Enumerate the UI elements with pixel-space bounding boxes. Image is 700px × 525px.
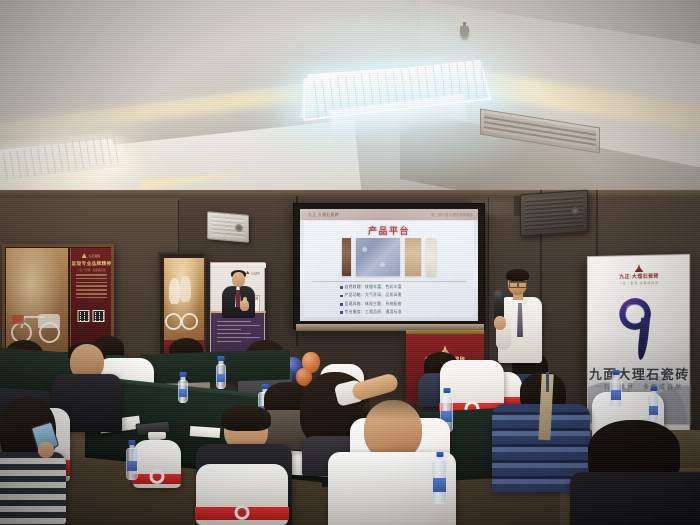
slide-logo: 九正·大理石瓷砖 <box>306 211 336 218</box>
bottle-body <box>126 448 138 480</box>
bottle-label <box>433 478 446 492</box>
list-item: 产品功能：大气开阔、品质高雅 <box>340 293 460 298</box>
bicycle-wheel <box>165 313 182 330</box>
poster-subtitle: 一石一世界 · 多面成自然 <box>71 268 112 272</box>
banner-portrait-head <box>232 272 245 287</box>
banner-bicycle-icon <box>165 306 199 332</box>
projection-screen: 九正·大理石瓷砖 第三届中国·大理石瓷砖峰会 产品平台 自然纹理：纹理丰富、色彩… <box>300 209 478 321</box>
bicycle-cart <box>38 314 60 328</box>
banner-topbar <box>211 263 266 268</box>
banner-header: 九正·大理石瓷砖 一石一世界 多面成自然 <box>588 263 691 286</box>
bottle-body <box>610 378 622 408</box>
water-bottle <box>216 356 226 388</box>
bullet-square-icon <box>340 286 343 289</box>
poster-logo-text: 九正瓷砖 <box>88 254 100 258</box>
bottle-body <box>216 364 226 389</box>
banner-title: 九面大理石瓷砖 <box>588 364 691 383</box>
water-bottle <box>432 452 447 504</box>
slide-swatch-row <box>304 238 474 278</box>
bullet-text: 产品功能：大气开阔、品质高雅 <box>345 293 402 298</box>
banner-figure <box>169 278 180 304</box>
ceiling-light-left <box>0 128 130 190</box>
bullet-text: 自然纹理：纹理丰富、色彩丰富 <box>345 285 402 290</box>
bullet-square-icon <box>340 303 343 306</box>
brand-mark-icon <box>246 271 249 275</box>
bullet-text: 呈现风格：体现主题、系统配套 <box>345 302 402 307</box>
chair-sash-ring <box>235 505 250 520</box>
slide-header-right-text: 第三届中国·大理石瓷砖峰会 <box>431 212 473 217</box>
swatch-marble <box>356 238 400 276</box>
loudspeaker-icon <box>520 190 588 237</box>
qr-code-icon <box>78 310 90 322</box>
banner-logo: 九正瓷砖 <box>246 270 260 275</box>
person-torso <box>0 452 66 524</box>
chair <box>196 464 288 525</box>
water-bottle <box>648 386 659 422</box>
nine-gloss <box>625 303 636 314</box>
presenter-hair <box>506 269 529 281</box>
water-bottle <box>178 372 188 402</box>
swatch-sandstone <box>405 238 421 276</box>
bottle-label <box>611 390 621 400</box>
poster-qr-row <box>78 310 105 322</box>
bottle-body <box>648 394 659 423</box>
chair <box>133 440 181 488</box>
bottle-body <box>432 460 447 504</box>
bullet-text: 专业服务：工程品质、通用标准 <box>345 310 402 315</box>
banner-header-logo-text: 九正·大理石瓷砖 <box>619 273 659 281</box>
slide-body: 产品平台 自然纹理：纹理丰富、色彩丰富 产品功能：大气开阔、品质高雅 <box>304 221 474 317</box>
thumbs-up-icon <box>243 297 247 304</box>
speaker-driver <box>235 224 243 233</box>
poster-title: 呈现专业品牌精神 <box>71 261 112 267</box>
loudspeaker-icon <box>207 211 249 243</box>
bicycle-basket <box>12 315 24 324</box>
bullet-square-icon <box>340 311 343 314</box>
bottle-label <box>217 374 225 382</box>
banner-subtitle: 一石一世界 多面成自然 <box>588 382 691 391</box>
audience-person <box>0 396 70 525</box>
slide-title: 产品平台 <box>304 224 474 237</box>
poster-body-lines <box>76 274 107 300</box>
lanyard <box>546 372 549 392</box>
bottle-label <box>127 461 137 471</box>
bottle-label <box>179 389 187 396</box>
table <box>140 349 290 384</box>
ceiling-light-main <box>296 46 496 132</box>
slide-bullet-list: 自然纹理：纹理丰富、色彩丰富 产品功能：大气开阔、品质高雅 呈现风格：体现主题、… <box>340 285 460 319</box>
bicycle-wheel <box>181 313 198 330</box>
presentation-slide: 九正·大理石瓷砖 第三届中国·大理石瓷砖峰会 产品平台 自然纹理：纹理丰富、色彩… <box>300 209 478 321</box>
banner-header-subtitle: 一石一世界 多面成自然 <box>619 281 658 286</box>
microphone-head <box>493 290 505 299</box>
slide-logo-text: 九正·大理石瓷砖 <box>308 212 339 218</box>
water-bottle <box>610 370 622 408</box>
brand-mark-icon <box>82 253 87 258</box>
glasses-icon <box>509 281 527 285</box>
slide-header: 九正·大理石瓷砖 第三届中国·大理石瓷砖峰会 <box>300 209 478 220</box>
person-torso <box>570 472 700 525</box>
sprinkler-icon <box>460 26 469 37</box>
list-item: 自然纹理：纹理丰富、色彩丰富 <box>340 285 460 290</box>
poster-logo: 九正瓷砖 <box>80 252 102 259</box>
swatch-solid <box>426 238 436 276</box>
person-hair <box>221 405 271 431</box>
banner-figure <box>180 276 191 302</box>
bottle-body <box>178 380 188 403</box>
presenter-hand <box>494 316 506 330</box>
numeral-nine-logo <box>615 298 661 360</box>
bottle-label <box>649 406 658 415</box>
chair-sash-ring <box>150 469 165 484</box>
water-bottle <box>126 440 138 480</box>
list-item: 专业服务：工程品质、通用标准 <box>340 310 460 315</box>
audience-person <box>580 420 700 525</box>
banner-logo-text: 九正瓷砖 <box>250 271 260 275</box>
person-hair <box>362 398 424 420</box>
brand-mark-icon <box>635 264 644 272</box>
slide-divider <box>312 281 466 282</box>
swatch-wood <box>342 238 351 276</box>
conference-room-photo: 九正·大理石瓷砖 第三届中国·大理石瓷砖峰会 产品平台 自然纹理：纹理丰富、色彩… <box>0 0 700 525</box>
bullet-square-icon <box>340 295 343 298</box>
qr-code-icon <box>93 310 105 322</box>
person-hand <box>38 442 54 458</box>
wall-top-trim <box>0 190 700 198</box>
list-item: 呈现风格：体现主题、系统配套 <box>340 302 460 307</box>
